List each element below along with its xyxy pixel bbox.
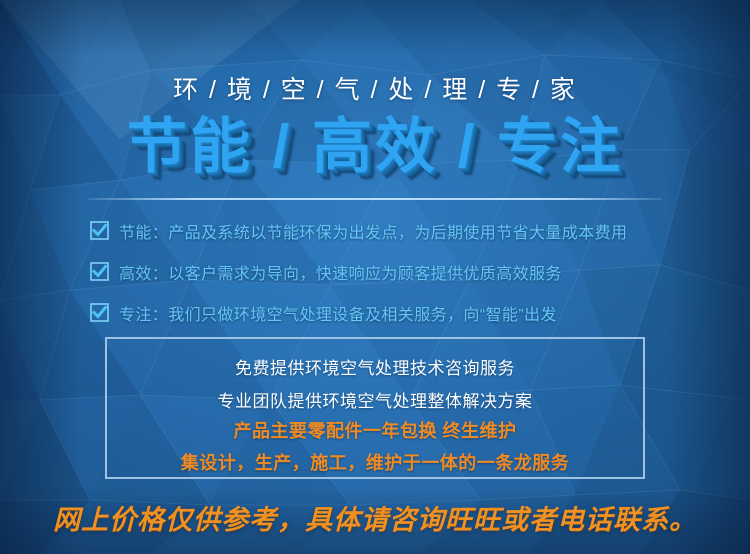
service-info-box: 免费提供环境空气处理技术咨询服务 专业团队提供环境空气处理整体解决方案 产品主要… — [105, 337, 645, 479]
checkbox-checked-icon — [90, 221, 109, 240]
info-line-warranty: 产品主要零配件一年包换 终生维护 — [107, 417, 643, 443]
info-line-solution: 专业团队提供环境空气处理整体解决方案 — [107, 387, 643, 412]
tagline: 环 / 境 / 空 / 气 / 处 / 理 / 专 / 家 — [0, 70, 750, 106]
price-disclaimer-note: 网上价格仅供参考，具体请咨询旺旺或者电话联系。 — [0, 498, 750, 537]
checkbox-checked-icon — [90, 262, 109, 281]
list-item-label: 专注：我们只做环境空气处理设备及相关服务，向“智能”出发 — [119, 301, 557, 325]
list-item-label: 节能：产品及系统以节能环保为出发点，为后期使用节省大量成本费用 — [119, 219, 627, 243]
list-item: 节能：产品及系统以节能环保为出发点，为后期使用节省大量成本费用 — [90, 210, 690, 251]
feature-bullet-list: 节能：产品及系统以节能环保为出发点，为后期使用节省大量成本费用 高效：以客户需求… — [90, 210, 690, 333]
list-item-label: 高效：以客户需求为导向，快速响应为顾客提供优质高效服务 — [119, 260, 562, 284]
headline: 节能 / 高效 / 专注 — [0, 117, 750, 177]
list-item: 专注：我们只做环境空气处理设备及相关服务，向“智能”出发 — [90, 292, 690, 333]
promo-banner: 环 / 境 / 空 / 气 / 处 / 理 / 专 / 家 节能 / 高效 / … — [0, 0, 750, 554]
info-line-consulting: 免费提供环境空气处理技术咨询服务 — [107, 354, 643, 379]
info-line-onestop: 集设计，生产，施工，维护于一体的一条龙服务 — [107, 449, 643, 475]
headline-divider — [88, 198, 662, 200]
list-item: 高效：以客户需求为导向，快速响应为顾客提供优质高效服务 — [90, 251, 690, 292]
checkbox-checked-icon — [90, 303, 109, 322]
